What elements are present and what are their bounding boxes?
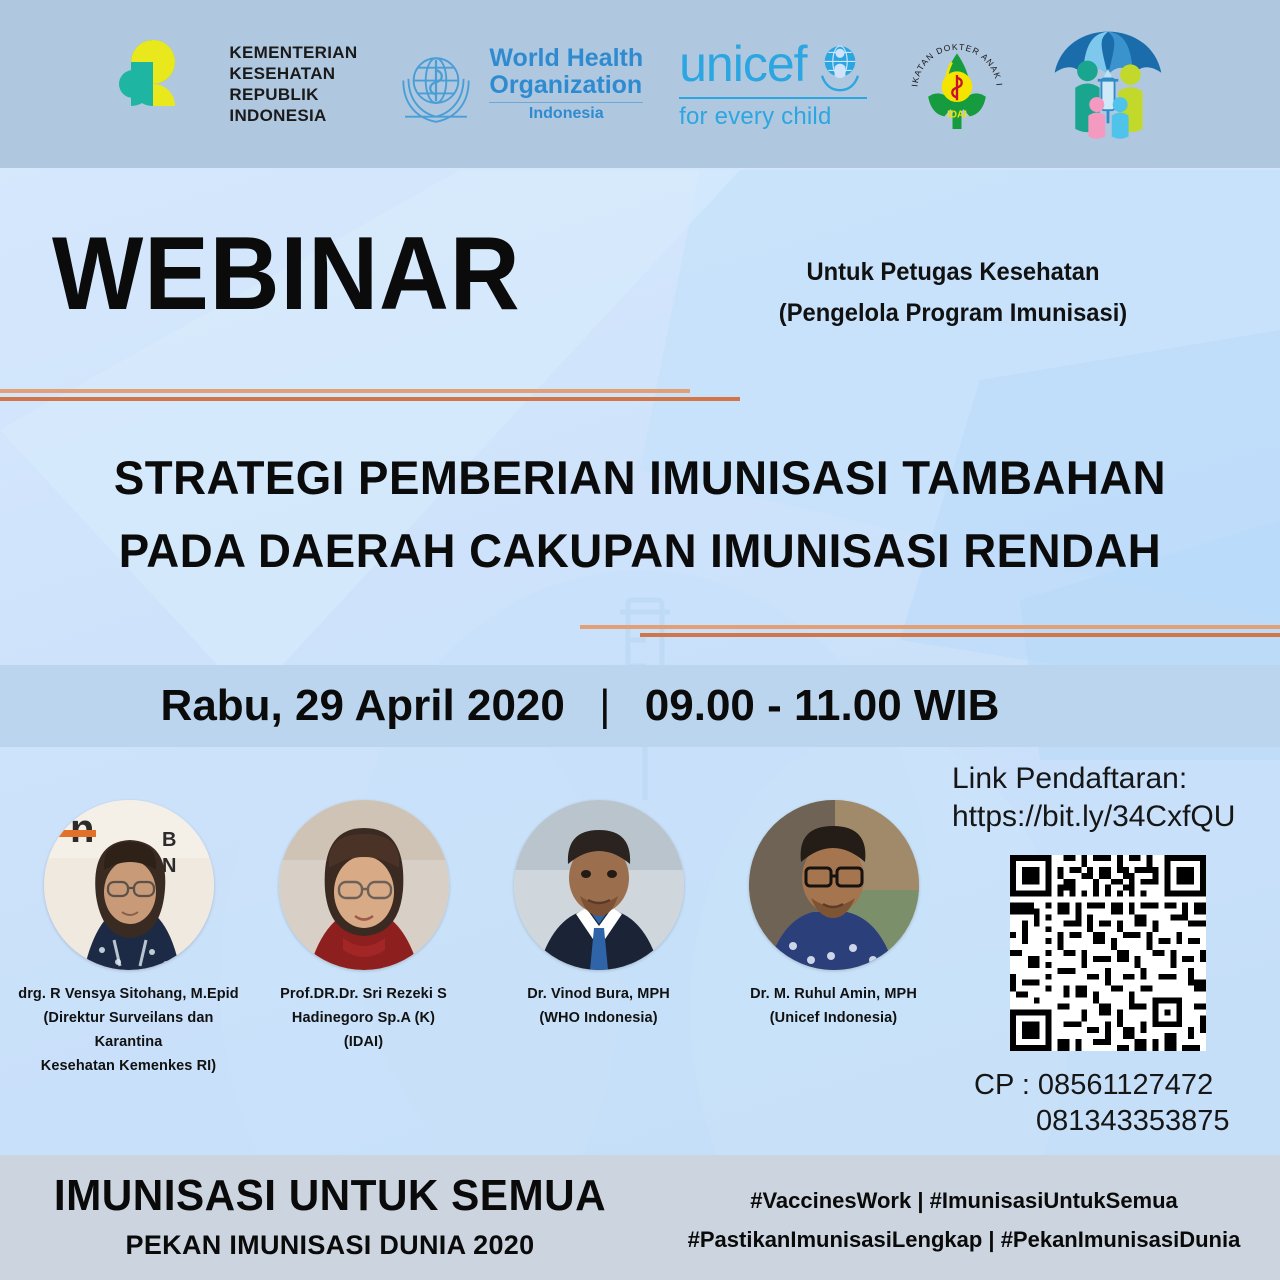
speaker-card: Dr. Vinod Bura, MPH (WHO Indonesia) [486, 800, 711, 1031]
speaker-caption: Prof.DR.Dr. Sri Rezeki S Hadinegoro Sp.A… [280, 983, 447, 1055]
speaker-name: Dr. Vinod Bura, MPH [527, 983, 670, 1007]
svg-text:n: n [70, 807, 94, 851]
audience-line-2: (Pengelola Program Imunisasi) [730, 293, 1177, 334]
registration-url[interactable]: https://bit.ly/34CxfQU [952, 798, 1264, 836]
qr-code-wrapper[interactable] [952, 855, 1264, 1051]
registration-block: Link Pendaftaran: https://bit.ly/34CxfQU [952, 760, 1264, 1139]
speaker-affiliation-1: (Unicef Indonesia) [750, 1007, 917, 1031]
webinar-poster: KEMENTERIAN KESEHATAN REPUBLIK INDONESIA [0, 0, 1280, 1280]
kemenkes-line-1: KEMENTERIAN [229, 42, 357, 63]
umbrella-family-icon [1047, 26, 1169, 142]
divider-top-dark [0, 397, 740, 401]
speaker-name: Dr. M. Ruhul Amin, MPH [750, 983, 917, 1007]
headline-line-2: PADA DAERAH CAKUPAN IMUNISASI RENDAH [19, 515, 1261, 588]
avatar [514, 800, 684, 970]
speaker-card: Prof.DR.Dr. Sri Rezeki S Hadinegoro Sp.A… [251, 800, 476, 1055]
unicef-logo: unicef for every child [679, 38, 866, 131]
unicef-divider [679, 97, 866, 99]
speaker-card: n B N [16, 800, 241, 1079]
speaker-affiliation-2: (IDAI) [280, 1031, 447, 1055]
speaker-list: n B N [16, 800, 946, 1079]
footer-subslogan: PEKAN IMUNISASI DUNIA 2020 [0, 1231, 660, 1259]
unicef-wordmark: unicef [679, 41, 806, 89]
speaker-name: drg. R Vensya Sitohang, M.Epid [16, 983, 241, 1007]
avatar: n B N [44, 800, 214, 970]
kemenkes-line-2: KESEHATAN [229, 63, 357, 84]
svg-text:B: B [162, 829, 176, 851]
schedule: Rabu, 29 April 2020 | 09.00 - 11.00 WIB [0, 672, 1160, 740]
footer-hashtags: #VaccinesWork | #ImunisasiUntukSemua #Pa… [684, 1182, 1244, 1259]
contact-block: CP : 08561127472 081343353875 [952, 1067, 1264, 1140]
who-country: Indonesia [489, 105, 643, 123]
page-title: STRATEGI PEMBERIAN IMUNISASI TAMBAHAN PA… [19, 442, 1261, 588]
divider-bottom-light [580, 625, 1280, 629]
speaker-caption: Dr. M. Ruhul Amin, MPH (Unicef Indonesia… [750, 983, 917, 1031]
who-emblem-icon [393, 41, 479, 127]
kemenkes-wordmark: KEMENTERIAN KESEHATAN REPUBLIK INDONESIA [229, 42, 357, 127]
kemenkes-mark-icon [111, 32, 215, 136]
umbrella-family-logo [1047, 26, 1169, 142]
registration-label: Link Pendaftaran: [952, 760, 1264, 798]
speaker-caption: drg. R Vensya Sitohang, M.Epid (Direktur… [16, 983, 241, 1079]
speaker-affiliation-2: Kesehatan Kemenkes RI) [16, 1055, 241, 1079]
webinar-title: WEBINAR [52, 222, 521, 326]
hashtags-line-2: #PastikanImunisasiLengkap | #PekanImunis… [684, 1221, 1244, 1260]
who-wordmark: World Health Organization Indonesia [489, 45, 643, 123]
kemenkes-line-3: REPUBLIK [229, 84, 357, 105]
speaker-caption: Dr. Vinod Bura, MPH (WHO Indonesia) [527, 983, 670, 1031]
speaker-affiliation-1: Hadinegoro Sp.A (K) [280, 1007, 447, 1031]
schedule-time: 09.00 - 11.00 WIB [645, 681, 1000, 730]
speaker-photo-ruhul-amin [749, 800, 919, 970]
qr-code [1010, 855, 1206, 1051]
speaker-card: Dr. M. Ruhul Amin, MPH (Unicef Indonesia… [721, 800, 946, 1031]
idai-emblem-icon: IKATAN DOKTER ANAK INDONESIA IDAI [903, 30, 1011, 138]
avatar [749, 800, 919, 970]
who-logo: World Health Organization Indonesia [393, 41, 643, 127]
idai-logo: IKATAN DOKTER ANAK INDONESIA IDAI [903, 30, 1011, 138]
who-line-2: Organization [489, 72, 643, 98]
footer-slogan: IMUNISASI UNTUK SEMUA [13, 1173, 647, 1219]
schedule-date: Rabu, 29 April 2020 [161, 681, 565, 730]
unicef-tagline: for every child [679, 103, 866, 131]
who-divider [489, 102, 643, 103]
divider-top-light [0, 389, 690, 393]
audience-note: Untuk Petugas Kesehatan (Pengelola Progr… [730, 252, 1177, 335]
partner-logos: KEMENTERIAN KESEHATAN REPUBLIK INDONESIA [0, 0, 1280, 168]
unicef-emblem-icon [813, 38, 867, 92]
kemenkes-logo: KEMENTERIAN KESEHATAN REPUBLIK INDONESIA [111, 32, 357, 136]
speaker-affiliation-1: (WHO Indonesia) [527, 1007, 670, 1031]
speaker-photo-vensya: n B N [44, 800, 214, 970]
avatar [279, 800, 449, 970]
audience-line-1: Untuk Petugas Kesehatan [730, 252, 1177, 293]
speaker-photo-vinod-bura [514, 800, 684, 970]
divider-bottom-dark [640, 633, 1280, 637]
speaker-photo-sri-rezeki [279, 800, 449, 970]
speaker-affiliation-1: (Direktur Surveilans dan Karantina [16, 1007, 241, 1055]
who-line-1: World Health [489, 45, 643, 71]
hashtags-line-1: #VaccinesWork | #ImunisasiUntukSemua [684, 1182, 1244, 1221]
headline-line-1: STRATEGI PEMBERIAN IMUNISASI TAMBAHAN [19, 442, 1261, 515]
contact-primary: CP : 08561127472 [974, 1067, 1264, 1103]
svg-text:IDAI: IDAI [947, 109, 967, 120]
schedule-separator: | [577, 672, 632, 740]
speaker-name: Prof.DR.Dr. Sri Rezeki S [280, 983, 447, 1007]
contact-secondary: 081343353875 [974, 1103, 1264, 1139]
kemenkes-line-4: INDONESIA [229, 105, 357, 126]
footer-slogan-block: IMUNISASI UNTUK SEMUA PEKAN IMUNISASI DU… [0, 1173, 660, 1260]
